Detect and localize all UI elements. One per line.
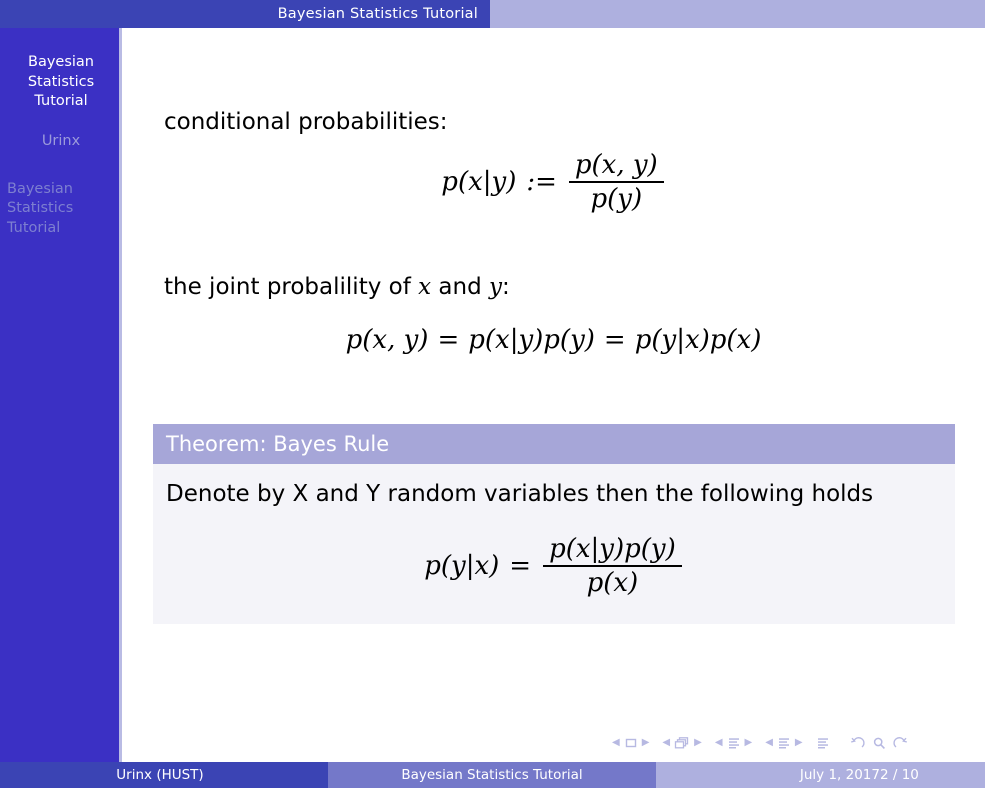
equation2-equals-2: = <box>604 325 626 355</box>
slide-content: conditional probabilities: the joint pro… <box>122 28 985 762</box>
equation1-operator: := <box>526 167 557 197</box>
footline-bar: Urinx (HUST) Bayesian Statistics Tutoria… <box>0 762 985 788</box>
equation1-denominator: p(y) <box>584 183 648 214</box>
equation2-equals-1: = <box>437 325 459 355</box>
paragraph-joint-probability: the joint probalility of x and y: <box>164 273 510 301</box>
section-navigation-group[interactable]: ◀ ▶ <box>765 736 802 750</box>
section-lines-icon[interactable] <box>777 736 791 750</box>
go-back-icon[interactable] <box>850 736 866 750</box>
subsection-lines-icon[interactable] <box>727 736 741 750</box>
document-navigation-group[interactable] <box>816 736 830 750</box>
previous-slide-icon[interactable]: ◀ <box>612 738 620 748</box>
footline-date-text: July 1, 2017 <box>656 762 880 788</box>
next-subsection-icon[interactable]: ▶ <box>745 738 753 748</box>
equation3-lhs: p(y|x) <box>424 551 499 581</box>
footline-title-text: Bayesian Statistics Tutorial <box>328 762 656 788</box>
equation3-denominator: p(x) <box>581 567 645 598</box>
search-icon[interactable] <box>872 736 886 750</box>
paragraph-joint-colon: : <box>502 274 510 300</box>
go-forward-icon[interactable] <box>892 736 908 750</box>
sidebar-author: Urinx <box>0 132 122 151</box>
sidebar-section-list[interactable]: Bayesian Statistics Tutorial <box>0 180 122 239</box>
equation3-numerator: p(x|y)p(y) <box>543 534 682 565</box>
sidebar-title-line: Statistics <box>6 73 116 93</box>
next-section-icon[interactable]: ▶ <box>795 738 803 748</box>
beamer-navigation-symbols[interactable]: ◀ ▶ ◀ ▶ ◀ ▶ ◀ <box>612 731 970 755</box>
sidebar-item-bayesian-statistics-tutorial[interactable]: Bayesian <box>7 180 122 200</box>
slide-icon[interactable] <box>624 736 638 750</box>
equation1-numerator: p(x, y) <box>569 150 664 181</box>
headline-bar-light-segment <box>490 0 985 28</box>
paragraph-conditional-probabilities: conditional probabilities: <box>164 108 448 136</box>
equation2-part2: p(x|y)p(y) <box>468 325 595 355</box>
footline-author-text: Urinx (HUST) <box>0 762 320 788</box>
equation3-fraction: p(x|y)p(y) p(x) <box>543 534 682 598</box>
theorem-statement-text: Denote by X and Y random variables then … <box>166 480 942 508</box>
equation2-part1: p(x, y) <box>346 325 429 355</box>
subsection-navigation-group[interactable]: ◀ ▶ <box>715 736 752 750</box>
headline-title: Bayesian Statistics Tutorial <box>0 0 478 28</box>
next-frame-icon[interactable]: ▶ <box>694 738 702 748</box>
sidebar-title-line: Bayesian <box>6 53 116 73</box>
sidebar: Bayesian Statistics Tutorial Urinx Bayes… <box>0 28 122 762</box>
theorem-block-title: Theorem: Bayes Rule <box>153 424 955 464</box>
footline-page-number: 2 / 10 <box>880 762 970 788</box>
equation-bayes-rule: p(y|x) = p(x|y)p(y) p(x) <box>166 534 942 598</box>
equation1-fraction: p(x, y) p(y) <box>569 150 664 214</box>
paragraph-joint-text: the joint probalility of <box>164 274 418 300</box>
previous-frame-icon[interactable]: ◀ <box>662 738 670 748</box>
next-slide-icon[interactable]: ▶ <box>642 738 650 748</box>
document-icon[interactable] <box>816 736 830 750</box>
headline-bar: Bayesian Statistics Tutorial <box>0 0 985 28</box>
sidebar-title-line: Tutorial <box>6 92 116 112</box>
equation-joint-factorization: p(x, y) = p(x|y)p(y) = p(y|x)p(x) <box>122 325 985 355</box>
inline-var-x: x <box>418 274 431 300</box>
sidebar-item-line-2[interactable]: Statistics <box>7 199 122 219</box>
equation2-part3: p(y|x)p(x) <box>635 325 762 355</box>
inline-var-y: y <box>489 274 502 300</box>
paragraph-joint-and: and <box>431 274 489 300</box>
equation3-operator: = <box>509 551 531 581</box>
equation-conditional-definition: p(x|y) := p(x, y) p(y) <box>122 150 985 214</box>
equation1-lhs: p(x|y) <box>441 167 516 197</box>
frame-navigation-group[interactable]: ◀ ▶ <box>662 736 701 750</box>
previous-section-icon[interactable]: ◀ <box>765 738 773 748</box>
slide-navigation-group[interactable]: ◀ ▶ <box>612 736 649 750</box>
sidebar-presentation-title: Bayesian Statistics Tutorial <box>0 53 122 112</box>
sidebar-item-line-3[interactable]: Tutorial <box>7 219 122 239</box>
theorem-block-body: Denote by X and Y random variables then … <box>153 464 955 624</box>
previous-subsection-icon[interactable]: ◀ <box>715 738 723 748</box>
theorem-block: Theorem: Bayes Rule Denote by X and Y ra… <box>153 424 955 624</box>
frames-stack-icon[interactable] <box>674 736 690 750</box>
back-search-forward-group[interactable] <box>850 736 908 750</box>
